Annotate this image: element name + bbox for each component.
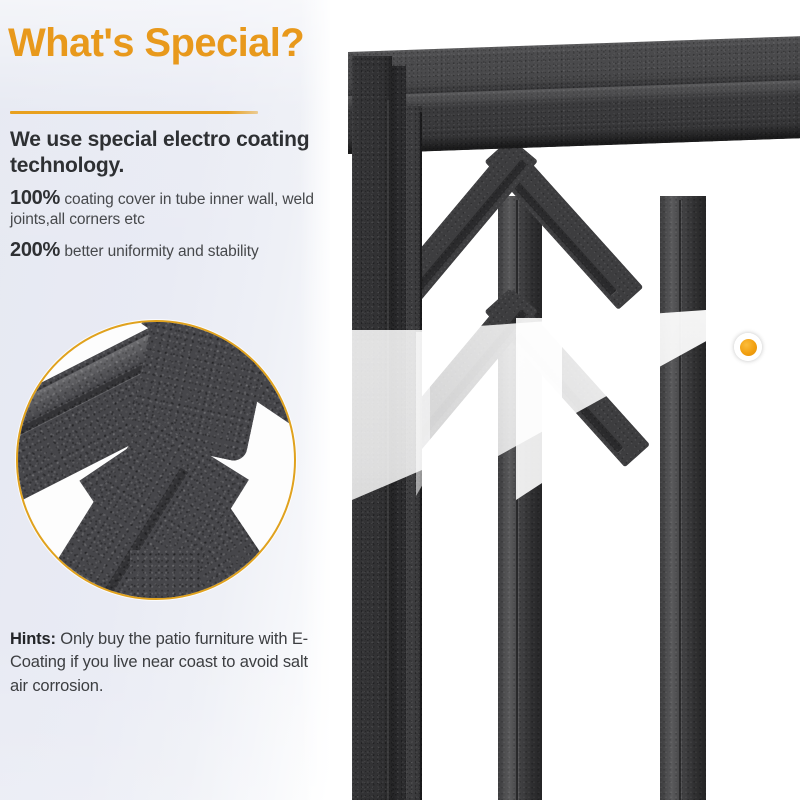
vertical-slat-groove [679, 200, 681, 800]
hints-label: Hints: [10, 630, 56, 648]
page-title: What's Special? [8, 21, 304, 66]
left-post-inner-edge [420, 112, 422, 800]
lead-paragraph: We use special electro coating technolog… [10, 127, 340, 180]
stat-item-100: 100% coating cover in tube inner wall, w… [10, 186, 346, 230]
hints-paragraph: Hints: Only buy the patio furniture with… [10, 628, 322, 698]
left-post-side-face [392, 66, 406, 800]
left-post-edge-highlight [387, 100, 389, 800]
closeup-bar-bottom-stub [130, 550, 200, 600]
stat-item-200: 200% better uniformity and stability [10, 238, 346, 262]
vertical-slat-shine [660, 196, 706, 800]
title-divider [10, 111, 258, 114]
vertical-slat-shine [498, 196, 542, 800]
infographic-canvas: What's Special? We use special electro c… [0, 0, 800, 800]
left-post-front-face [352, 56, 392, 800]
coating-texture-closeup [16, 320, 296, 600]
stat-number: 100% [10, 187, 60, 209]
closeup-inner [18, 322, 294, 598]
stat-text: better uniformity and stability [64, 243, 258, 260]
product-photo [330, 0, 800, 800]
coating-origin-marker[interactable] [734, 333, 762, 361]
vertical-slat-groove [516, 200, 518, 800]
marker-core-dot [740, 339, 757, 356]
stat-number: 200% [10, 239, 60, 261]
